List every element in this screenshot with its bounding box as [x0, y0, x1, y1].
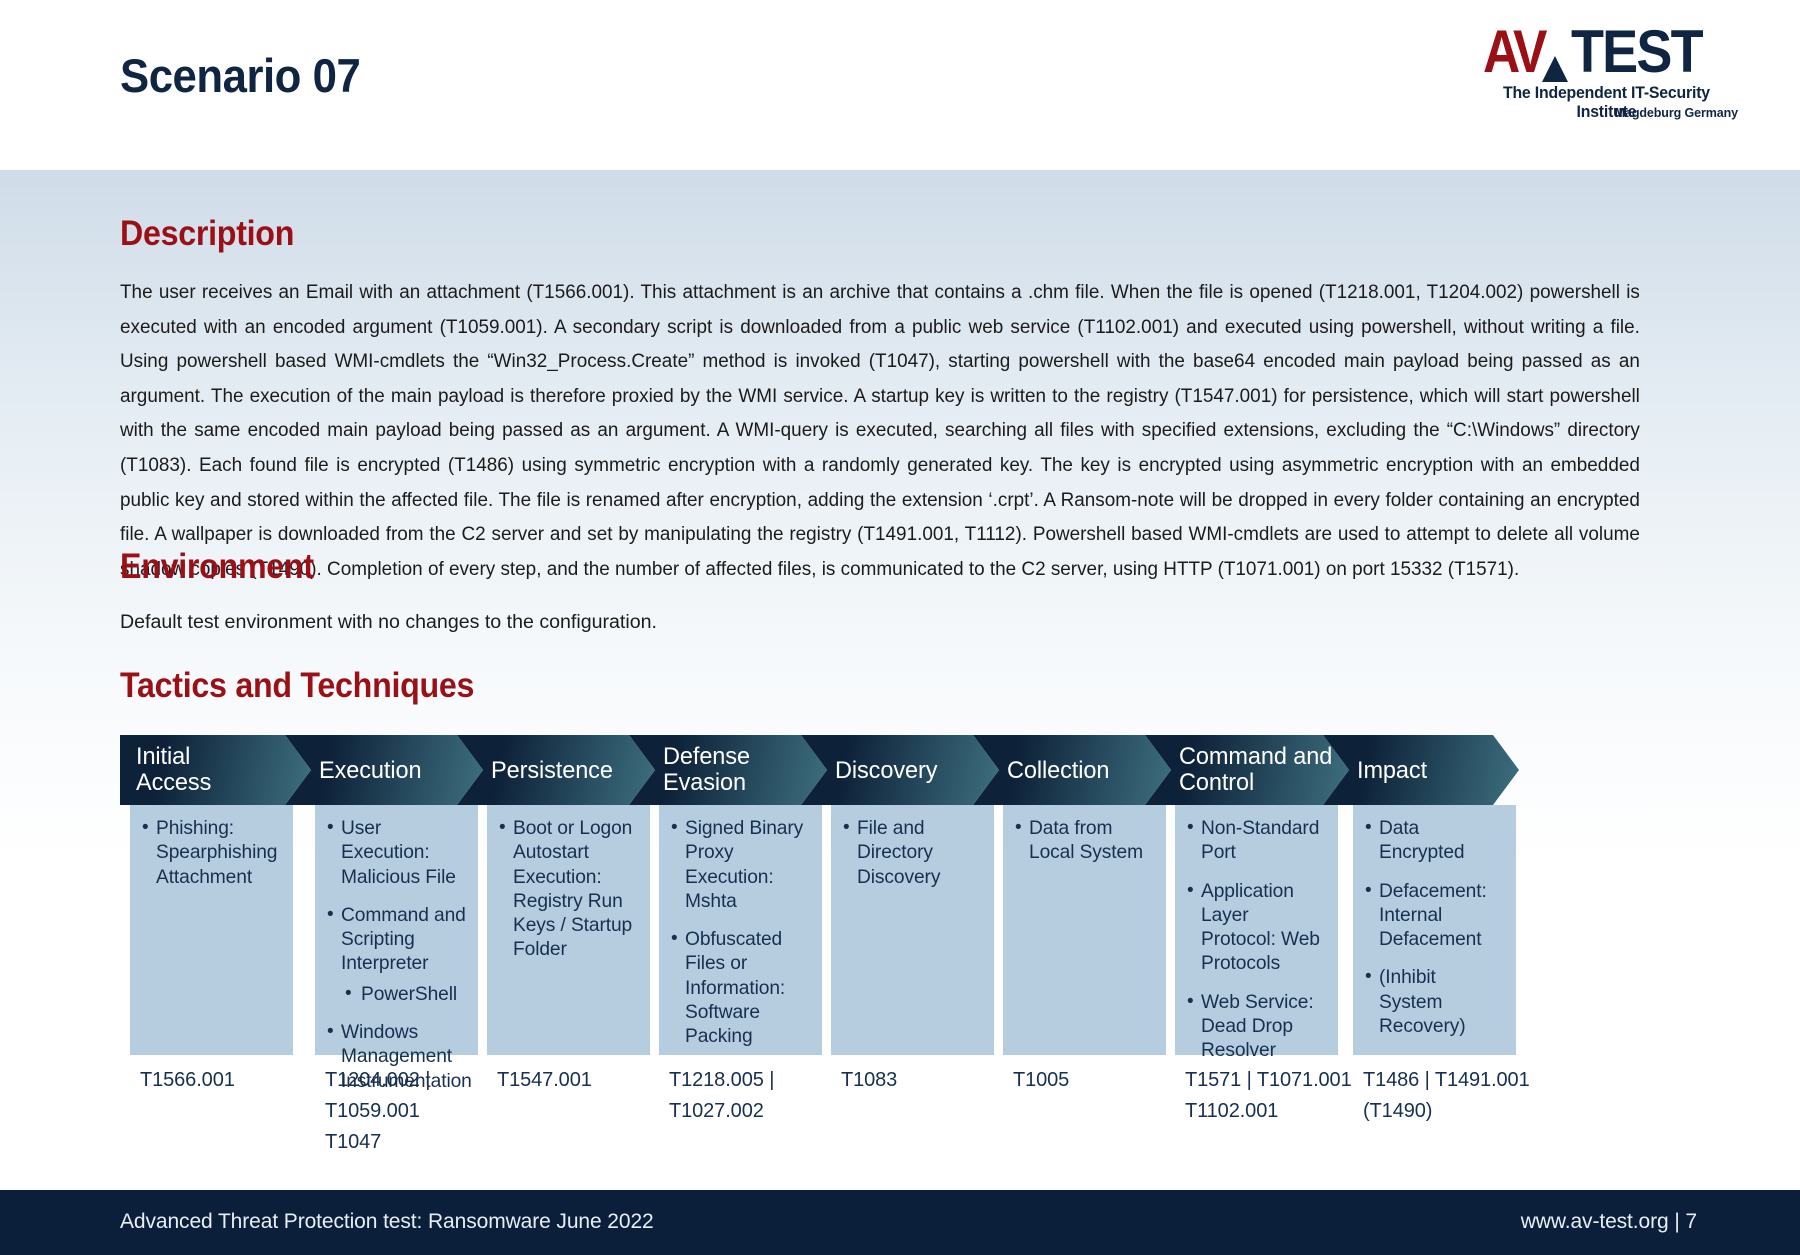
tactic-label: Command andControl: [1179, 744, 1332, 796]
tactic-chevron-defense-evasion: DefenseEvasion: [629, 735, 827, 805]
technique-item: •Data from Local System: [1013, 817, 1154, 866]
bullet-icon: •: [1187, 879, 1194, 903]
tactic-chevron-impact: Impact: [1323, 735, 1519, 805]
technique-item: •Web Service: Dead Drop Resolver: [1185, 991, 1326, 1064]
technique-item: •Command and Scripting Interpreter: [325, 904, 466, 977]
technique-label: Defacement: Internal Defacement: [1379, 881, 1487, 951]
footer-url-page: www.av-test.org | 7: [1521, 1210, 1697, 1234]
technique-id-text: T1218.005 | T1027.002: [659, 1055, 859, 1127]
technique-label: Obfuscated Files or Information: Softwar…: [685, 929, 785, 1047]
page-root: Scenario 07 AV TEST The Independent IT-S…: [0, 0, 1800, 1255]
bullet-icon: •: [327, 816, 334, 840]
tactic-chevron-command-and-control: Command andControl: [1145, 735, 1349, 805]
technique-label: Command and Scripting Interpreter: [341, 905, 466, 975]
tactic-label: Persistence: [491, 758, 613, 783]
bullet-icon: •: [1365, 816, 1372, 840]
technique-list: •Non-Standard Port•Application Layer Pro…: [1185, 817, 1326, 1064]
bullet-icon: •: [671, 816, 678, 840]
technique-list: •Data from Local System: [1013, 817, 1154, 866]
technique-cells-row: •Phishing: Spearphishing Attachment•User…: [120, 805, 1697, 1055]
technique-label: Web Service: Dead Drop Resolver: [1201, 992, 1314, 1062]
technique-label: Non-Standard Port: [1201, 818, 1319, 863]
logo-triangle-icon: [1542, 56, 1568, 82]
bullet-icon: •: [671, 927, 678, 951]
technique-label: File and Directory Discovery: [857, 818, 940, 888]
technique-item: •File and Directory Discovery: [841, 817, 982, 890]
logo-wordmark: AV TEST: [1483, 22, 1738, 84]
page-footer: Advanced Threat Protection test: Ransomw…: [0, 1190, 1800, 1255]
technique-item: •User Execution: Malicious File: [325, 817, 466, 890]
technique-ids-row: T1566.001T1204.002 | T1059.001T1047T1547…: [120, 1055, 1697, 1135]
technique-label: Phishing: Spearphishing Attachment: [156, 818, 277, 888]
technique-item: •Phishing: Spearphishing Attachment: [140, 817, 281, 890]
technique-list: •Data Encrypted•Defacement: Internal Def…: [1363, 817, 1504, 1039]
tactic-chevron-persistence: Persistence: [457, 735, 655, 805]
tactic-label: Execution: [319, 758, 421, 783]
tactic-chevron-collection: Collection: [973, 735, 1171, 805]
bullet-icon: •: [327, 903, 334, 927]
technique-item: •Non-Standard Port: [1185, 817, 1326, 866]
bullet-icon: •: [1015, 816, 1022, 840]
technique-item: •Data Encrypted: [1363, 817, 1504, 866]
bullet-icon: •: [1365, 879, 1372, 903]
tactic-header-row: InitialAccessExecutionPersistenceDefense…: [120, 735, 1697, 805]
tactic-label: DefenseEvasion: [663, 744, 750, 796]
tactic-label: InitialAccess: [136, 744, 211, 796]
technique-cell: •Phishing: Spearphishing Attachment: [130, 805, 293, 1055]
logo-av-text: AV: [1483, 22, 1544, 82]
technique-list: •Phishing: Spearphishing Attachment: [140, 817, 281, 890]
technique-cell: •Data Encrypted•Defacement: Internal Def…: [1353, 805, 1516, 1055]
bullet-icon: •: [843, 816, 850, 840]
technique-cell: •Signed Binary Proxy Execution: Mshta•Ob…: [659, 805, 822, 1055]
tactic-chevron-initial-access: InitialAccess: [120, 735, 311, 805]
tactic-label: Collection: [1007, 758, 1109, 783]
technique-label: Signed Binary Proxy Execution: Mshta: [685, 818, 803, 912]
tactics-heading: Tactics and Techniques: [120, 666, 474, 706]
technique-id-text: T1571 | T1071.001T1102.001: [1175, 1055, 1375, 1127]
bullet-icon: •: [1365, 965, 1372, 989]
attack-matrix: InitialAccessExecutionPersistenceDefense…: [120, 735, 1697, 1135]
technique-id-text: T1547.001: [487, 1055, 687, 1096]
bullet-icon: •: [345, 982, 352, 1006]
bullet-icon: •: [327, 1020, 334, 1044]
technique-item: •PowerShell: [325, 983, 466, 1007]
page-header: Scenario 07 AV TEST The Independent IT-S…: [0, 0, 1800, 170]
technique-item: •(Inhibit System Recovery): [1363, 966, 1504, 1039]
description-body: The user receives an Email with an attac…: [120, 275, 1640, 586]
bullet-icon: •: [142, 816, 149, 840]
technique-list: •File and Directory Discovery: [841, 817, 982, 890]
tactic-label: Impact: [1357, 758, 1427, 783]
tactic-chevron-execution: Execution: [285, 735, 483, 805]
technique-item: •Obfuscated Files or Information: Softwa…: [669, 928, 810, 1049]
technique-cell: •User Execution: Malicious File•Command …: [315, 805, 478, 1055]
environment-body: Default test environment with no changes…: [120, 607, 1120, 637]
av-test-logo: AV TEST The Independent IT-Security Inst…: [1483, 22, 1738, 122]
technique-label: Application Layer Protocol: Web Protocol…: [1201, 881, 1320, 975]
technique-list: •User Execution: Malicious File•Command …: [325, 817, 466, 1094]
technique-label: Data Encrypted: [1379, 818, 1465, 863]
technique-list: •Signed Binary Proxy Execution: Mshta•Ob…: [669, 817, 810, 1050]
technique-cell: •Non-Standard Port•Application Layer Pro…: [1175, 805, 1338, 1055]
technique-label: Boot or Logon Autostart Execution: Regis…: [513, 818, 632, 960]
technique-label: User Execution: Malicious File: [341, 818, 456, 888]
tactic-chevron-discovery: Discovery: [801, 735, 999, 805]
technique-label: PowerShell: [361, 984, 457, 1005]
bullet-icon: •: [1187, 816, 1194, 840]
technique-list: •Boot or Logon Autostart Execution: Regi…: [497, 817, 638, 963]
environment-heading: Environment: [120, 547, 314, 587]
technique-cell: •File and Directory Discovery: [831, 805, 994, 1055]
technique-id-text: T1204.002 | T1059.001T1047: [315, 1055, 515, 1158]
technique-label: (Inhibit System Recovery): [1379, 967, 1466, 1037]
bullet-icon: •: [499, 816, 506, 840]
tactic-label: Discovery: [835, 758, 937, 783]
technique-id-text: T1566.001: [130, 1055, 330, 1096]
technique-item: •Application Layer Protocol: Web Protoco…: [1185, 880, 1326, 977]
technique-id-text: T1486 | T1491.001(T1490): [1353, 1055, 1653, 1127]
technique-cell: •Data from Local System: [1003, 805, 1166, 1055]
technique-item: •Signed Binary Proxy Execution: Mshta: [669, 817, 810, 914]
bullet-icon: •: [1187, 990, 1194, 1014]
technique-id-text: T1083: [831, 1055, 1031, 1096]
technique-cell: •Boot or Logon Autostart Execution: Regi…: [487, 805, 650, 1055]
technique-item: •Boot or Logon Autostart Execution: Regi…: [497, 817, 638, 963]
logo-city: Magdeburg Germany: [1485, 106, 1738, 120]
description-heading: Description: [120, 214, 294, 254]
footer-test-name: Advanced Threat Protection test: Ransomw…: [120, 1210, 654, 1234]
technique-label: Data from Local System: [1029, 818, 1143, 863]
technique-id-text: T1005: [1003, 1055, 1203, 1096]
page-title: Scenario 07: [120, 48, 360, 103]
logo-test-text: TEST: [1571, 22, 1702, 82]
technique-item: •Defacement: Internal Defacement: [1363, 880, 1504, 953]
